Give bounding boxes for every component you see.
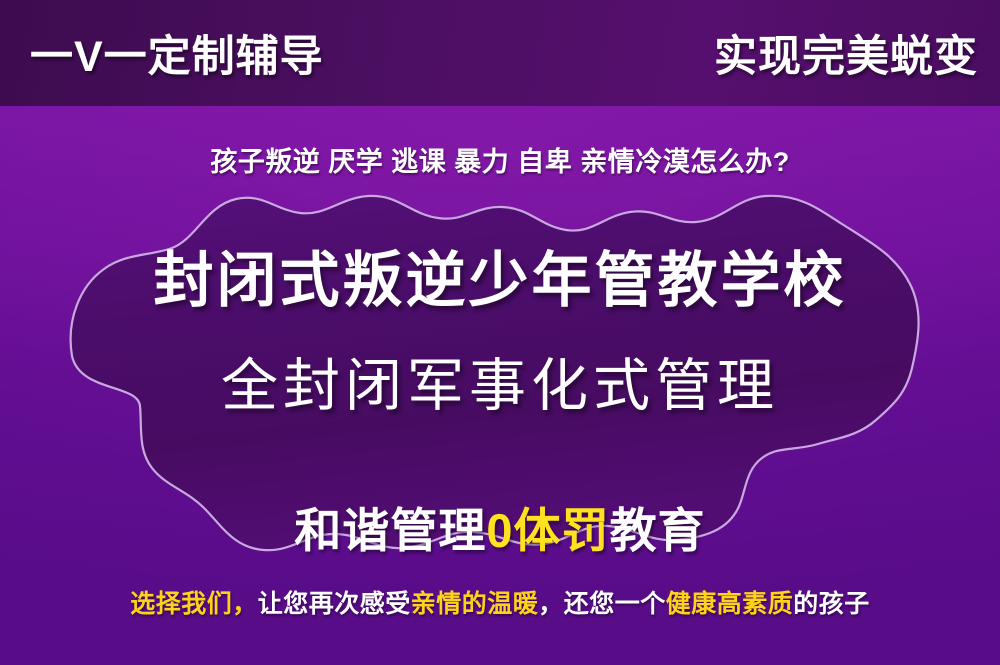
slogan-prefix: 和谐管理 [294,504,486,557]
problem-statement-line: 孩子叛逆 厌学 逃课 暴力 自卑 亲情冷漠怎么办? [0,140,1000,179]
secondary-headline: 全封闭军事化式管理 [0,340,1000,422]
footer-part-6: 的孩子 [793,590,870,618]
primary-headline: 封闭式叛逆少年管教学校 [0,232,1000,319]
slogan-highlight: 0体罚 [486,504,609,557]
promo-poster: 一V一定制辅导 实现完美蜕变 孩子叛逆 厌学 逃课 暴力 自卑 亲情冷漠怎么办?… [0,0,1000,665]
footer-part-5: 健康高素质 [666,590,794,618]
poster-content: 孩子叛逆 厌学 逃课 暴力 自卑 亲情冷漠怎么办? 封闭式叛逆少年管教学校 全封… [0,0,1000,665]
slogan-line: 和谐管理0体罚教育 [0,492,1000,561]
footer-tagline: 选择我们，让您再次感受亲情的温暖，还您一个健康高素质的孩子 [0,584,1000,620]
footer-part-2: 让您再次感受 [258,590,411,618]
footer-part-4: ，还您一个 [538,590,666,618]
footer-part-1: 选择我们， [130,590,258,618]
slogan-suffix: 教育 [610,504,706,557]
footer-part-3: 亲情的温暖 [411,590,539,618]
